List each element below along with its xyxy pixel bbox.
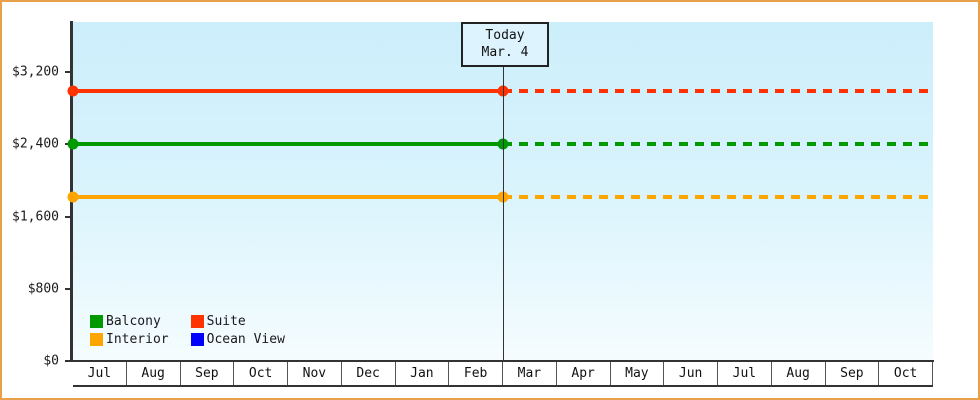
x-axis-month-cell[interactable]: Nov <box>287 362 341 385</box>
x-axis-month-cell[interactable]: Oct <box>233 362 287 385</box>
x-axis-month-cell[interactable]: May <box>610 362 664 385</box>
chart-legend: BalconySuiteInteriorOcean View <box>90 314 285 347</box>
x-axis-month-cell[interactable]: Aug <box>126 362 180 385</box>
series-line-solid <box>73 195 503 199</box>
legend-color-swatch <box>191 315 204 328</box>
x-axis-month-cell[interactable]: Apr <box>556 362 610 385</box>
legend-entry[interactable]: Ocean View <box>191 332 285 347</box>
legend-color-swatch <box>90 333 103 346</box>
legend-label: Balcony <box>106 314 161 329</box>
y-axis-tick <box>65 216 73 218</box>
today-tooltip: Today Mar. 4 <box>461 22 549 67</box>
x-axis-month-labels: JulAugSepOctNovDecJanFebMarAprMayJunJulA… <box>73 362 933 387</box>
x-axis-month-cell[interactable]: Feb <box>448 362 502 385</box>
price-history-chart: $0$800$1,600$2,400$3,200 Today Mar. 4 Ba… <box>0 0 980 400</box>
series-line-dashed-forecast <box>503 89 933 93</box>
y-axis-tick <box>65 71 73 73</box>
legend-entry[interactable]: Suite <box>191 314 285 329</box>
y-axis-tick-label: $0 <box>43 354 59 369</box>
y-axis-tick-label: $800 <box>28 281 59 296</box>
series-line-solid <box>73 89 503 93</box>
legend-entry[interactable]: Interior <box>90 332 169 347</box>
legend-color-swatch <box>191 333 204 346</box>
y-axis-tick <box>65 288 73 290</box>
legend-label: Interior <box>106 332 169 347</box>
series-line-dashed-forecast <box>503 195 933 199</box>
y-axis-tick-label: $1,600 <box>12 209 59 224</box>
series-line-solid <box>73 142 503 146</box>
x-axis-month-cell[interactable]: Sep <box>825 362 879 385</box>
y-axis-tick-label: $3,200 <box>12 65 59 80</box>
x-axis-month-cell[interactable]: Dec <box>341 362 395 385</box>
legend-entry[interactable]: Balcony <box>90 314 169 329</box>
series-line-dashed-forecast <box>503 142 933 146</box>
today-tooltip-date: Mar. 4 <box>473 44 537 61</box>
legend-label: Suite <box>207 314 246 329</box>
x-axis-month-cell[interactable]: Jul <box>73 362 126 385</box>
x-axis-month-cell[interactable]: Sep <box>180 362 234 385</box>
series-data-point[interactable] <box>68 192 79 203</box>
legend-label: Ocean View <box>207 332 285 347</box>
legend-color-swatch <box>90 315 103 328</box>
x-axis-month-cell[interactable]: Jul <box>717 362 771 385</box>
series-data-point[interactable] <box>68 85 79 96</box>
x-axis-month-cell[interactable]: Mar <box>502 362 556 385</box>
today-tooltip-title: Today <box>473 27 537 44</box>
series-data-point[interactable] <box>68 139 79 150</box>
x-axis-month-cell[interactable]: Jan <box>395 362 449 385</box>
x-axis-month-cell[interactable]: Aug <box>771 362 825 385</box>
y-axis-tick <box>65 360 73 362</box>
x-axis-month-cell[interactable]: Oct <box>878 362 933 385</box>
x-axis-month-cell[interactable]: Jun <box>663 362 717 385</box>
today-vertical-line <box>503 22 504 361</box>
y-axis-tick-label: $2,400 <box>12 137 59 152</box>
